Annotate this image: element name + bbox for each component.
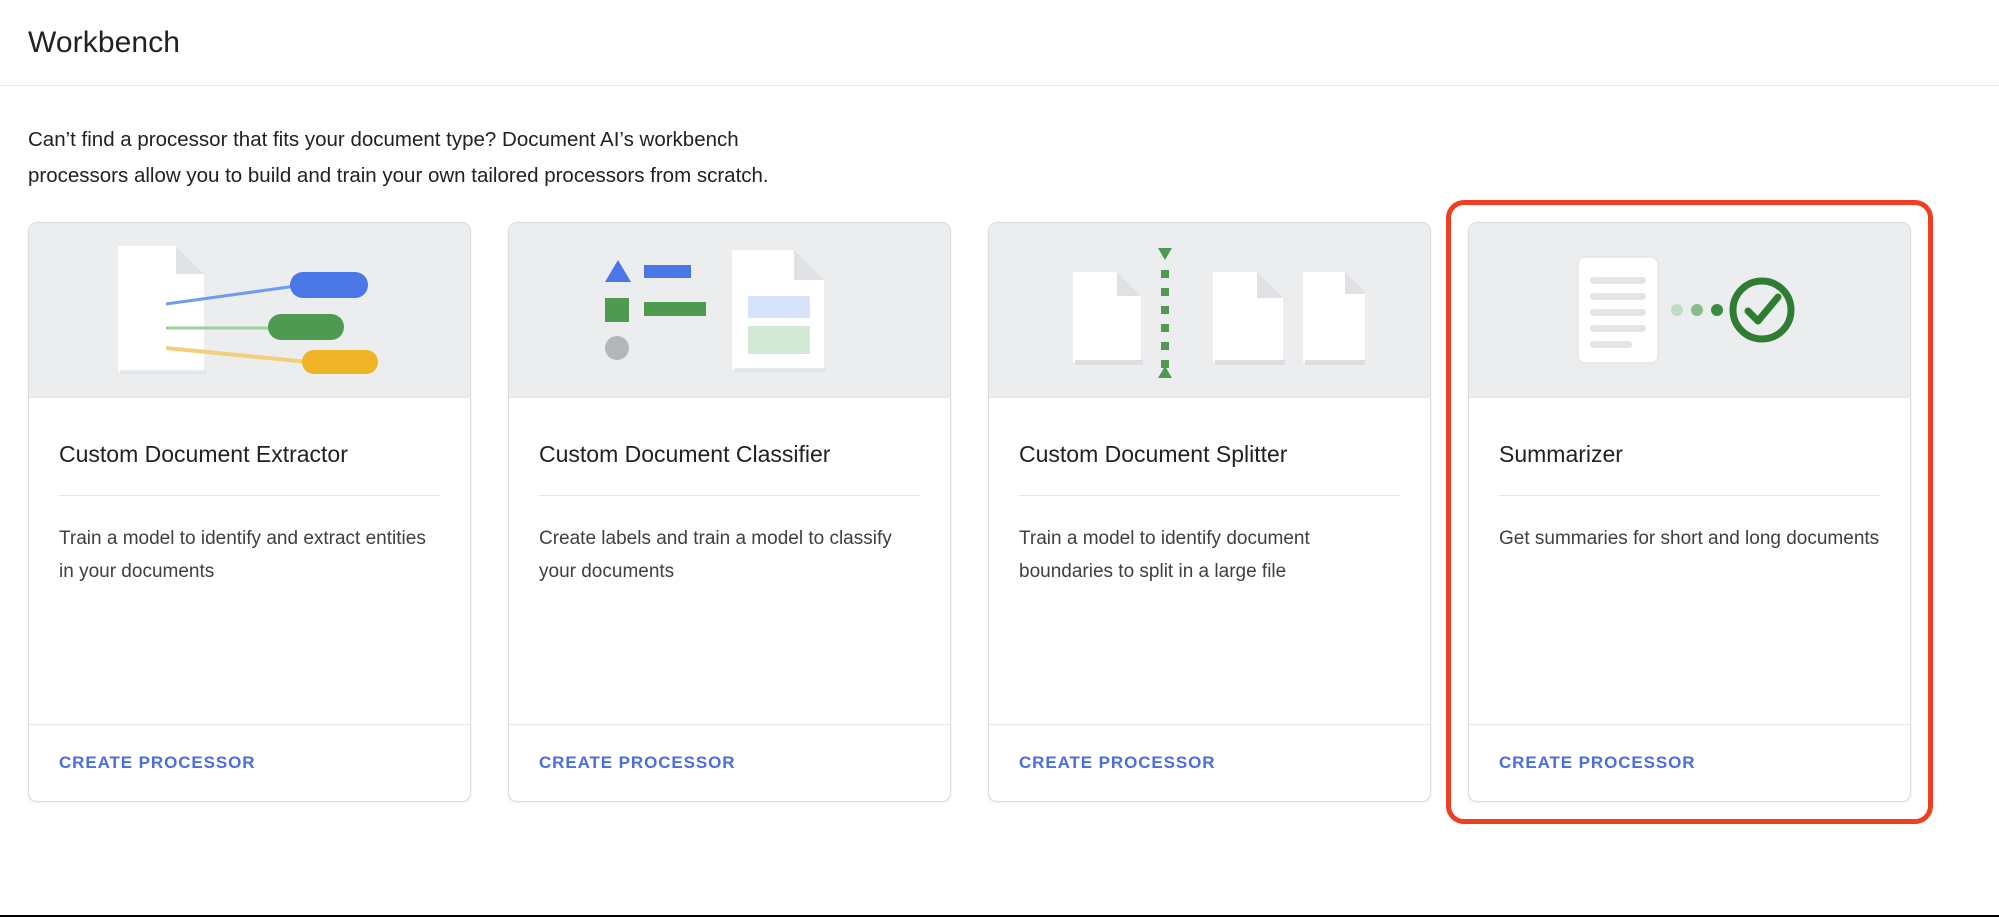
card-media-splitter bbox=[989, 223, 1430, 398]
create-processor-button[interactable]: CREATE PROCESSOR bbox=[1499, 753, 1695, 773]
card-title: Custom Document Classifier bbox=[539, 398, 920, 496]
intro-text: Can’t find a processor that fits your do… bbox=[0, 86, 900, 194]
document-summarize-check-icon bbox=[1560, 245, 1820, 375]
card-body-classifier: Custom Document Classifier Create labels… bbox=[509, 398, 950, 724]
processor-card-splitter[interactable]: Custom Document Splitter Train a model t… bbox=[988, 222, 1431, 802]
card-body-extractor: Custom Document Extractor Train a model … bbox=[29, 398, 470, 724]
processor-card-grid: Custom Document Extractor Train a model … bbox=[28, 222, 1948, 802]
intro-line-2: processors allow you to build and train … bbox=[28, 158, 872, 194]
create-processor-button[interactable]: CREATE PROCESSOR bbox=[59, 753, 255, 773]
card-media-extractor bbox=[29, 223, 470, 398]
card-body-summarizer: Summarizer Get summaries for short and l… bbox=[1469, 398, 1910, 724]
document-split-icon bbox=[1055, 240, 1365, 380]
card-title: Custom Document Splitter bbox=[1019, 398, 1400, 496]
intro-line-1: Can’t find a processor that fits your do… bbox=[28, 122, 872, 158]
card-actions-splitter: CREATE PROCESSOR bbox=[989, 724, 1430, 801]
card-slot-summarizer: Summarizer Get summaries for short and l… bbox=[1468, 222, 1948, 802]
processor-card-classifier[interactable]: Custom Document Classifier Create labels… bbox=[508, 222, 951, 802]
card-slot-classifier: Custom Document Classifier Create labels… bbox=[508, 222, 988, 802]
processor-card-summarizer[interactable]: Summarizer Get summaries for short and l… bbox=[1468, 222, 1911, 802]
card-actions-extractor: CREATE PROCESSOR bbox=[29, 724, 470, 801]
workbench-page: Workbench Can’t find a processor that fi… bbox=[0, 0, 1999, 917]
card-description: Get summaries for short and long documen… bbox=[1499, 496, 1880, 555]
create-processor-button[interactable]: CREATE PROCESSOR bbox=[539, 753, 735, 773]
card-actions-classifier: CREATE PROCESSOR bbox=[509, 724, 950, 801]
create-processor-button[interactable]: CREATE PROCESSOR bbox=[1019, 753, 1215, 773]
card-description: Train a model to identify and extract en… bbox=[59, 496, 440, 588]
card-actions-summarizer: CREATE PROCESSOR bbox=[1469, 724, 1910, 801]
card-slot-extractor: Custom Document Extractor Train a model … bbox=[28, 222, 508, 802]
card-body-splitter: Custom Document Splitter Train a model t… bbox=[989, 398, 1430, 724]
card-media-classifier bbox=[509, 223, 950, 398]
card-title: Custom Document Extractor bbox=[59, 398, 440, 496]
card-slot-splitter: Custom Document Splitter Train a model t… bbox=[988, 222, 1468, 802]
card-description: Train a model to identify document bound… bbox=[1019, 496, 1400, 588]
card-title: Summarizer bbox=[1499, 398, 1880, 496]
page-title: Workbench bbox=[28, 26, 180, 60]
processor-card-extractor[interactable]: Custom Document Extractor Train a model … bbox=[28, 222, 471, 802]
card-description: Create labels and train a model to class… bbox=[539, 496, 920, 588]
document-entity-extraction-icon bbox=[100, 240, 400, 380]
card-media-summarizer bbox=[1469, 223, 1910, 398]
page-header: Workbench bbox=[0, 0, 1999, 86]
document-classification-icon bbox=[580, 240, 880, 380]
